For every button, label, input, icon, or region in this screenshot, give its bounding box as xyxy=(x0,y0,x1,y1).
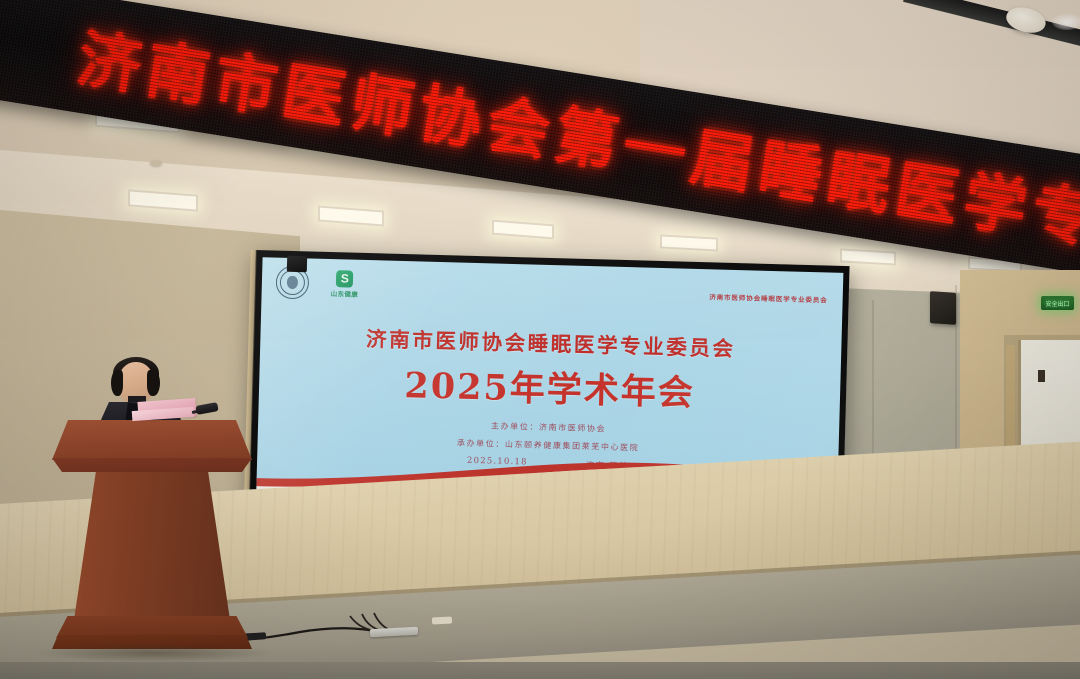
floor-object xyxy=(432,616,452,624)
shandong-health-label: 山东健康 xyxy=(331,288,359,299)
track-light-glow xyxy=(1052,14,1080,30)
shandong-health-mark-icon: S xyxy=(336,270,353,287)
podium-body xyxy=(74,472,230,620)
exit-sign-icon: 安全出口 xyxy=(1041,296,1074,310)
podium xyxy=(52,420,252,670)
door-hinge xyxy=(1038,370,1045,382)
podium-shadow xyxy=(40,644,270,662)
speaker-hair-right xyxy=(147,370,160,396)
podium-top xyxy=(52,420,252,460)
screen-mount-bracket xyxy=(287,256,307,273)
shandong-health-logo-icon: S 山东健康 xyxy=(331,270,359,299)
podium-lip xyxy=(52,458,252,472)
exit-sign-label: 安全出口 xyxy=(1045,299,1069,308)
conference-photo-scene: 济南市医师协会第一届睡眠医学专业委员会20 安全出口 S 山东健康 xyxy=(0,0,1080,679)
slide-corner-tag: 济南市医师协会睡眠医学专业委员会 xyxy=(709,291,828,304)
speaker-hair-left xyxy=(111,370,123,396)
wall-speaker-icon xyxy=(930,291,956,325)
slide-title-block: 济南市医师协会睡眠医学专业委员会 2025年学术年会 xyxy=(259,319,842,420)
slide-title-line-2: 2025年学术年会 xyxy=(259,353,841,420)
smoke-detector xyxy=(150,160,162,166)
podium-base xyxy=(56,616,248,638)
